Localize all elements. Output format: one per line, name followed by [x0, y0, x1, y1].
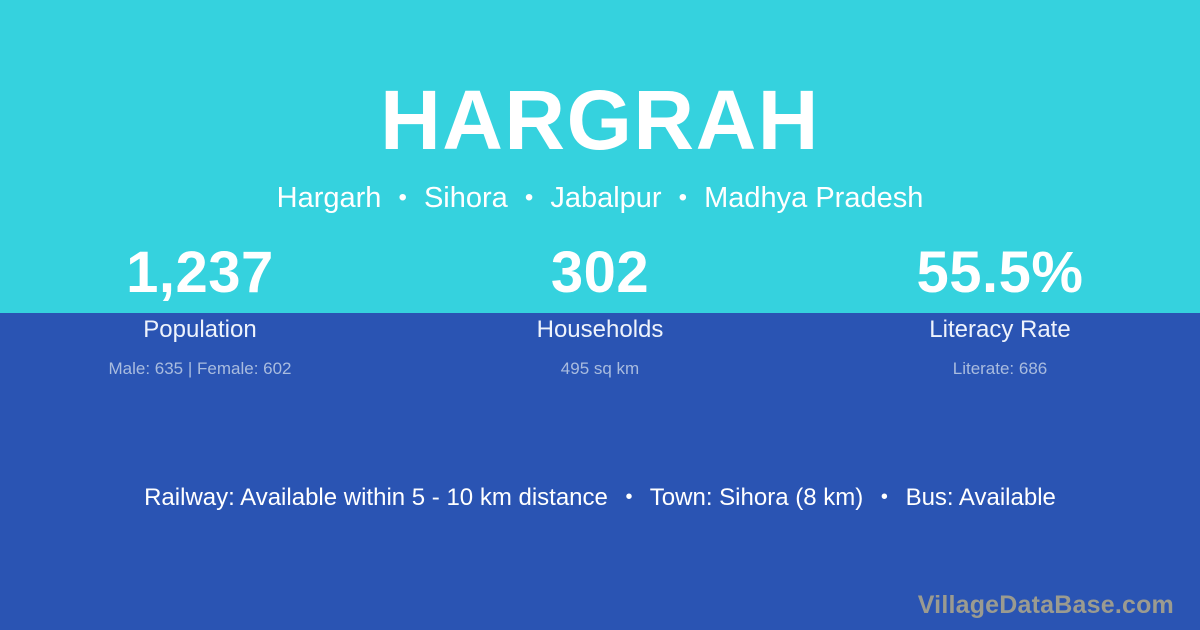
- stat-label: Population: [0, 318, 400, 342]
- breadcrumb: Hargarh • Sihora • Jabalpur • Madhya Pra…: [0, 162, 1200, 213]
- stat-households: 302 Households 495 sq km: [400, 244, 800, 377]
- village-info-card: HARGRAH Hargarh • Sihora • Jabalpur • Ma…: [0, 0, 1200, 630]
- stat-subtext: 495 sq km: [400, 360, 800, 377]
- stat-subtext: Male: 635 | Female: 602: [0, 360, 400, 377]
- stat-label: Households: [400, 318, 800, 342]
- breadcrumb-separator-icon: •: [389, 184, 415, 211]
- stat-value: 302: [400, 244, 800, 304]
- info-separator-icon: •: [870, 486, 899, 508]
- info-item-town: Town: Sihora (8 km): [650, 484, 863, 511]
- breadcrumb-separator-icon: •: [670, 184, 696, 211]
- stat-population: 1,237 Population Male: 635 | Female: 602: [0, 244, 400, 377]
- info-item-railway: Railway: Available within 5 - 10 km dist…: [144, 484, 608, 511]
- breadcrumb-item-block: Sihora: [424, 182, 508, 214]
- page-title: HARGRAH: [0, 0, 1200, 162]
- stat-subtext: Literate: 686: [800, 360, 1200, 377]
- breadcrumb-item-district: Jabalpur: [550, 182, 661, 214]
- info-item-bus: Bus: Available: [906, 484, 1056, 511]
- breadcrumb-separator-icon: •: [516, 184, 542, 211]
- stats-row: 1,237 Population Male: 635 | Female: 602…: [0, 244, 1200, 377]
- stat-value: 55.5%: [800, 244, 1200, 304]
- stat-value: 1,237: [0, 244, 400, 304]
- stat-label: Literacy Rate: [800, 318, 1200, 342]
- site-watermark: VillageDataBase.com: [918, 593, 1174, 618]
- info-separator-icon: •: [615, 486, 644, 508]
- breadcrumb-item-village: Hargarh: [277, 182, 382, 214]
- card-header: HARGRAH Hargarh • Sihora • Jabalpur • Ma…: [0, 0, 1200, 213]
- stat-literacy-rate: 55.5% Literacy Rate Literate: 686: [800, 244, 1200, 377]
- breadcrumb-item-state: Madhya Pradesh: [704, 182, 923, 214]
- facilities-info-line: Railway: Available within 5 - 10 km dist…: [0, 486, 1200, 510]
